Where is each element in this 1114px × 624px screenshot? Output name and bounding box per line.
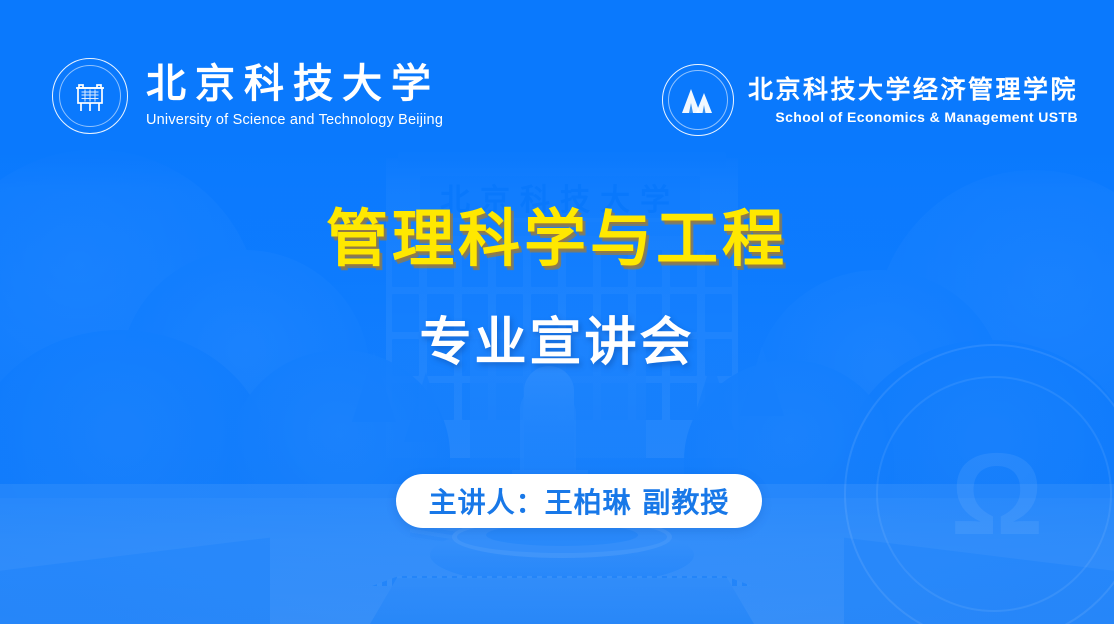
presentation-slide: 北京科技大学 [0,0,1114,624]
school-logo-lockup: 北京科技大学经济管理学院 School of Economics & Manag… [662,64,1078,136]
university-wordmark: 北京科技大学 University of Science and Technol… [146,64,443,128]
slide-subtitle: 专业宣讲会 [419,316,694,371]
slide-title: 管理科学与工程 [326,206,788,271]
school-name-en: School of Economics & Management USTB [775,110,1078,124]
speaker-badge: 主讲人：王柏琳 副教授 [396,474,762,528]
sem-ustb-seal-icon [662,64,734,136]
ustb-seal-icon [52,58,128,134]
school-name-cn: 北京科技大学经济管理学院 [748,77,1078,102]
speaker-name-label: 主讲人：王柏琳 副教授 [429,481,730,521]
university-name-cn: 北京科技大学 [146,64,443,104]
university-logo-lockup: 北京科技大学 University of Science and Technol… [52,58,443,134]
university-name-en: University of Science and Technology Bei… [146,113,443,128]
school-wordmark: 北京科技大学经济管理学院 School of Economics & Manag… [748,77,1078,124]
subtitle-container: 专业宣讲会 [0,316,1114,371]
title-container: 管理科学与工程 [0,206,1114,271]
